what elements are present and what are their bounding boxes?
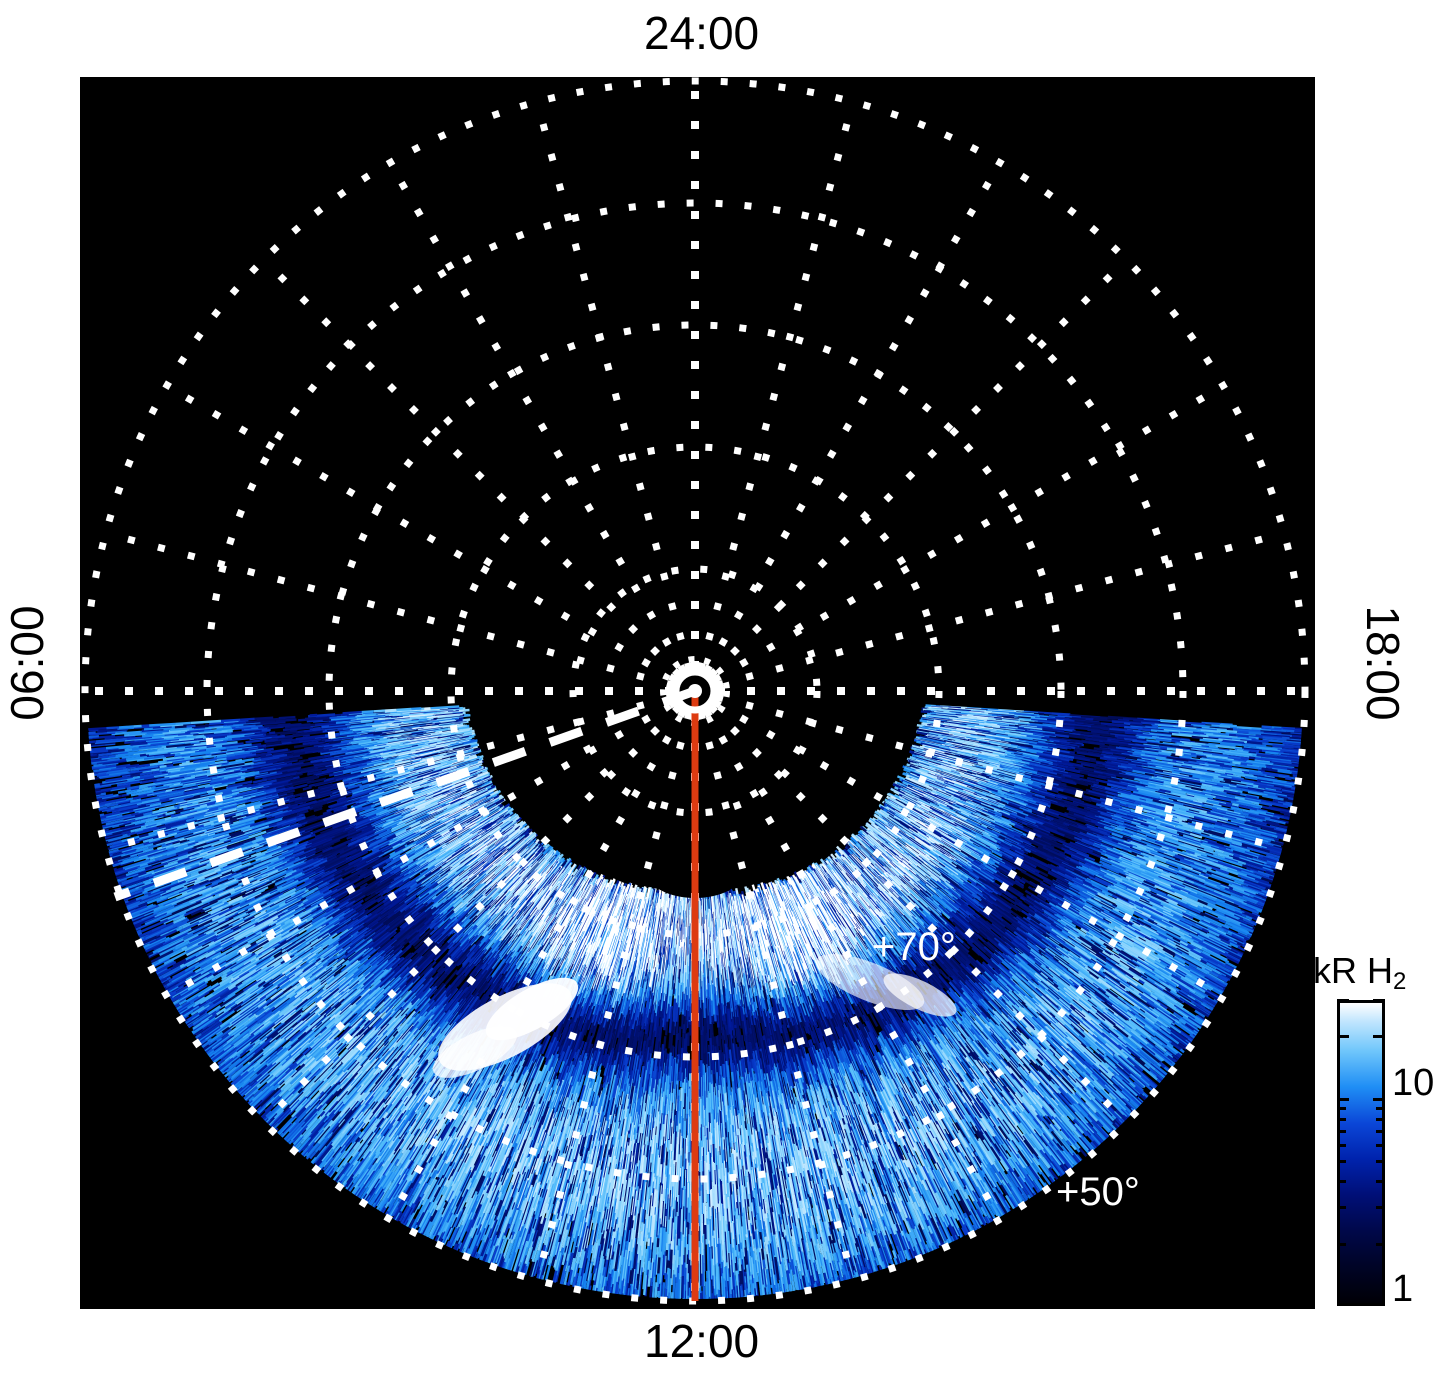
colorbar-tick bbox=[1376, 1160, 1385, 1163]
clock-label-bottom: 12:00 bbox=[644, 1318, 759, 1364]
colorbar-label-10: 10 bbox=[1392, 1062, 1434, 1105]
colorbar-label-1: 1 bbox=[1392, 1268, 1413, 1311]
colorbar-tick bbox=[1337, 1098, 1349, 1101]
colorbar-title: kR H2 bbox=[1313, 950, 1406, 992]
clock-label-left: 06:00 bbox=[4, 598, 50, 728]
colorbar-tick bbox=[1376, 1206, 1385, 1209]
colorbar-tick bbox=[1373, 1098, 1385, 1101]
colorbar-tick bbox=[1376, 1107, 1385, 1110]
polar-plot-area: +70° +50° bbox=[80, 77, 1315, 1309]
colorbar-tick bbox=[1337, 1180, 1346, 1183]
latitude-label-50: +50° bbox=[1056, 1170, 1140, 1214]
clock-label-top: 24:00 bbox=[644, 10, 759, 56]
colorbar-tick bbox=[1373, 1035, 1385, 1038]
colorbar-tick bbox=[1373, 999, 1385, 1002]
colorbar-tick bbox=[1376, 1118, 1385, 1121]
clock-label-right: 18:00 bbox=[1360, 598, 1406, 728]
colorbar-gradient bbox=[1337, 1000, 1385, 1306]
colorbar-tick bbox=[1337, 999, 1349, 1002]
colorbar-tick bbox=[1337, 1160, 1346, 1163]
latitude-label-70: +70° bbox=[872, 925, 956, 969]
colorbar-tick bbox=[1337, 1206, 1346, 1209]
colorbar-tick bbox=[1337, 1130, 1346, 1133]
colorbar-tick bbox=[1337, 1243, 1346, 1246]
colorbar-tick bbox=[1376, 1130, 1385, 1133]
pole-marker-dot bbox=[688, 684, 702, 698]
colorbar-tick bbox=[1337, 1107, 1346, 1110]
polar-plot-svg: +70° +50° bbox=[80, 77, 1315, 1309]
colorbar-tick bbox=[1376, 1243, 1385, 1246]
colorbar-title-main: kR H bbox=[1313, 950, 1393, 991]
figure-root: 24:00 12:00 06:00 18:00 +70° bbox=[0, 0, 1447, 1384]
colorbar-tick bbox=[1376, 1180, 1385, 1183]
colorbar-tick bbox=[1337, 1118, 1346, 1121]
colorbar-tick bbox=[1376, 1144, 1385, 1147]
colorbar-tick bbox=[1337, 1144, 1346, 1147]
colorbar-title-sub: 2 bbox=[1393, 968, 1406, 995]
colorbar-tick bbox=[1337, 1035, 1349, 1038]
